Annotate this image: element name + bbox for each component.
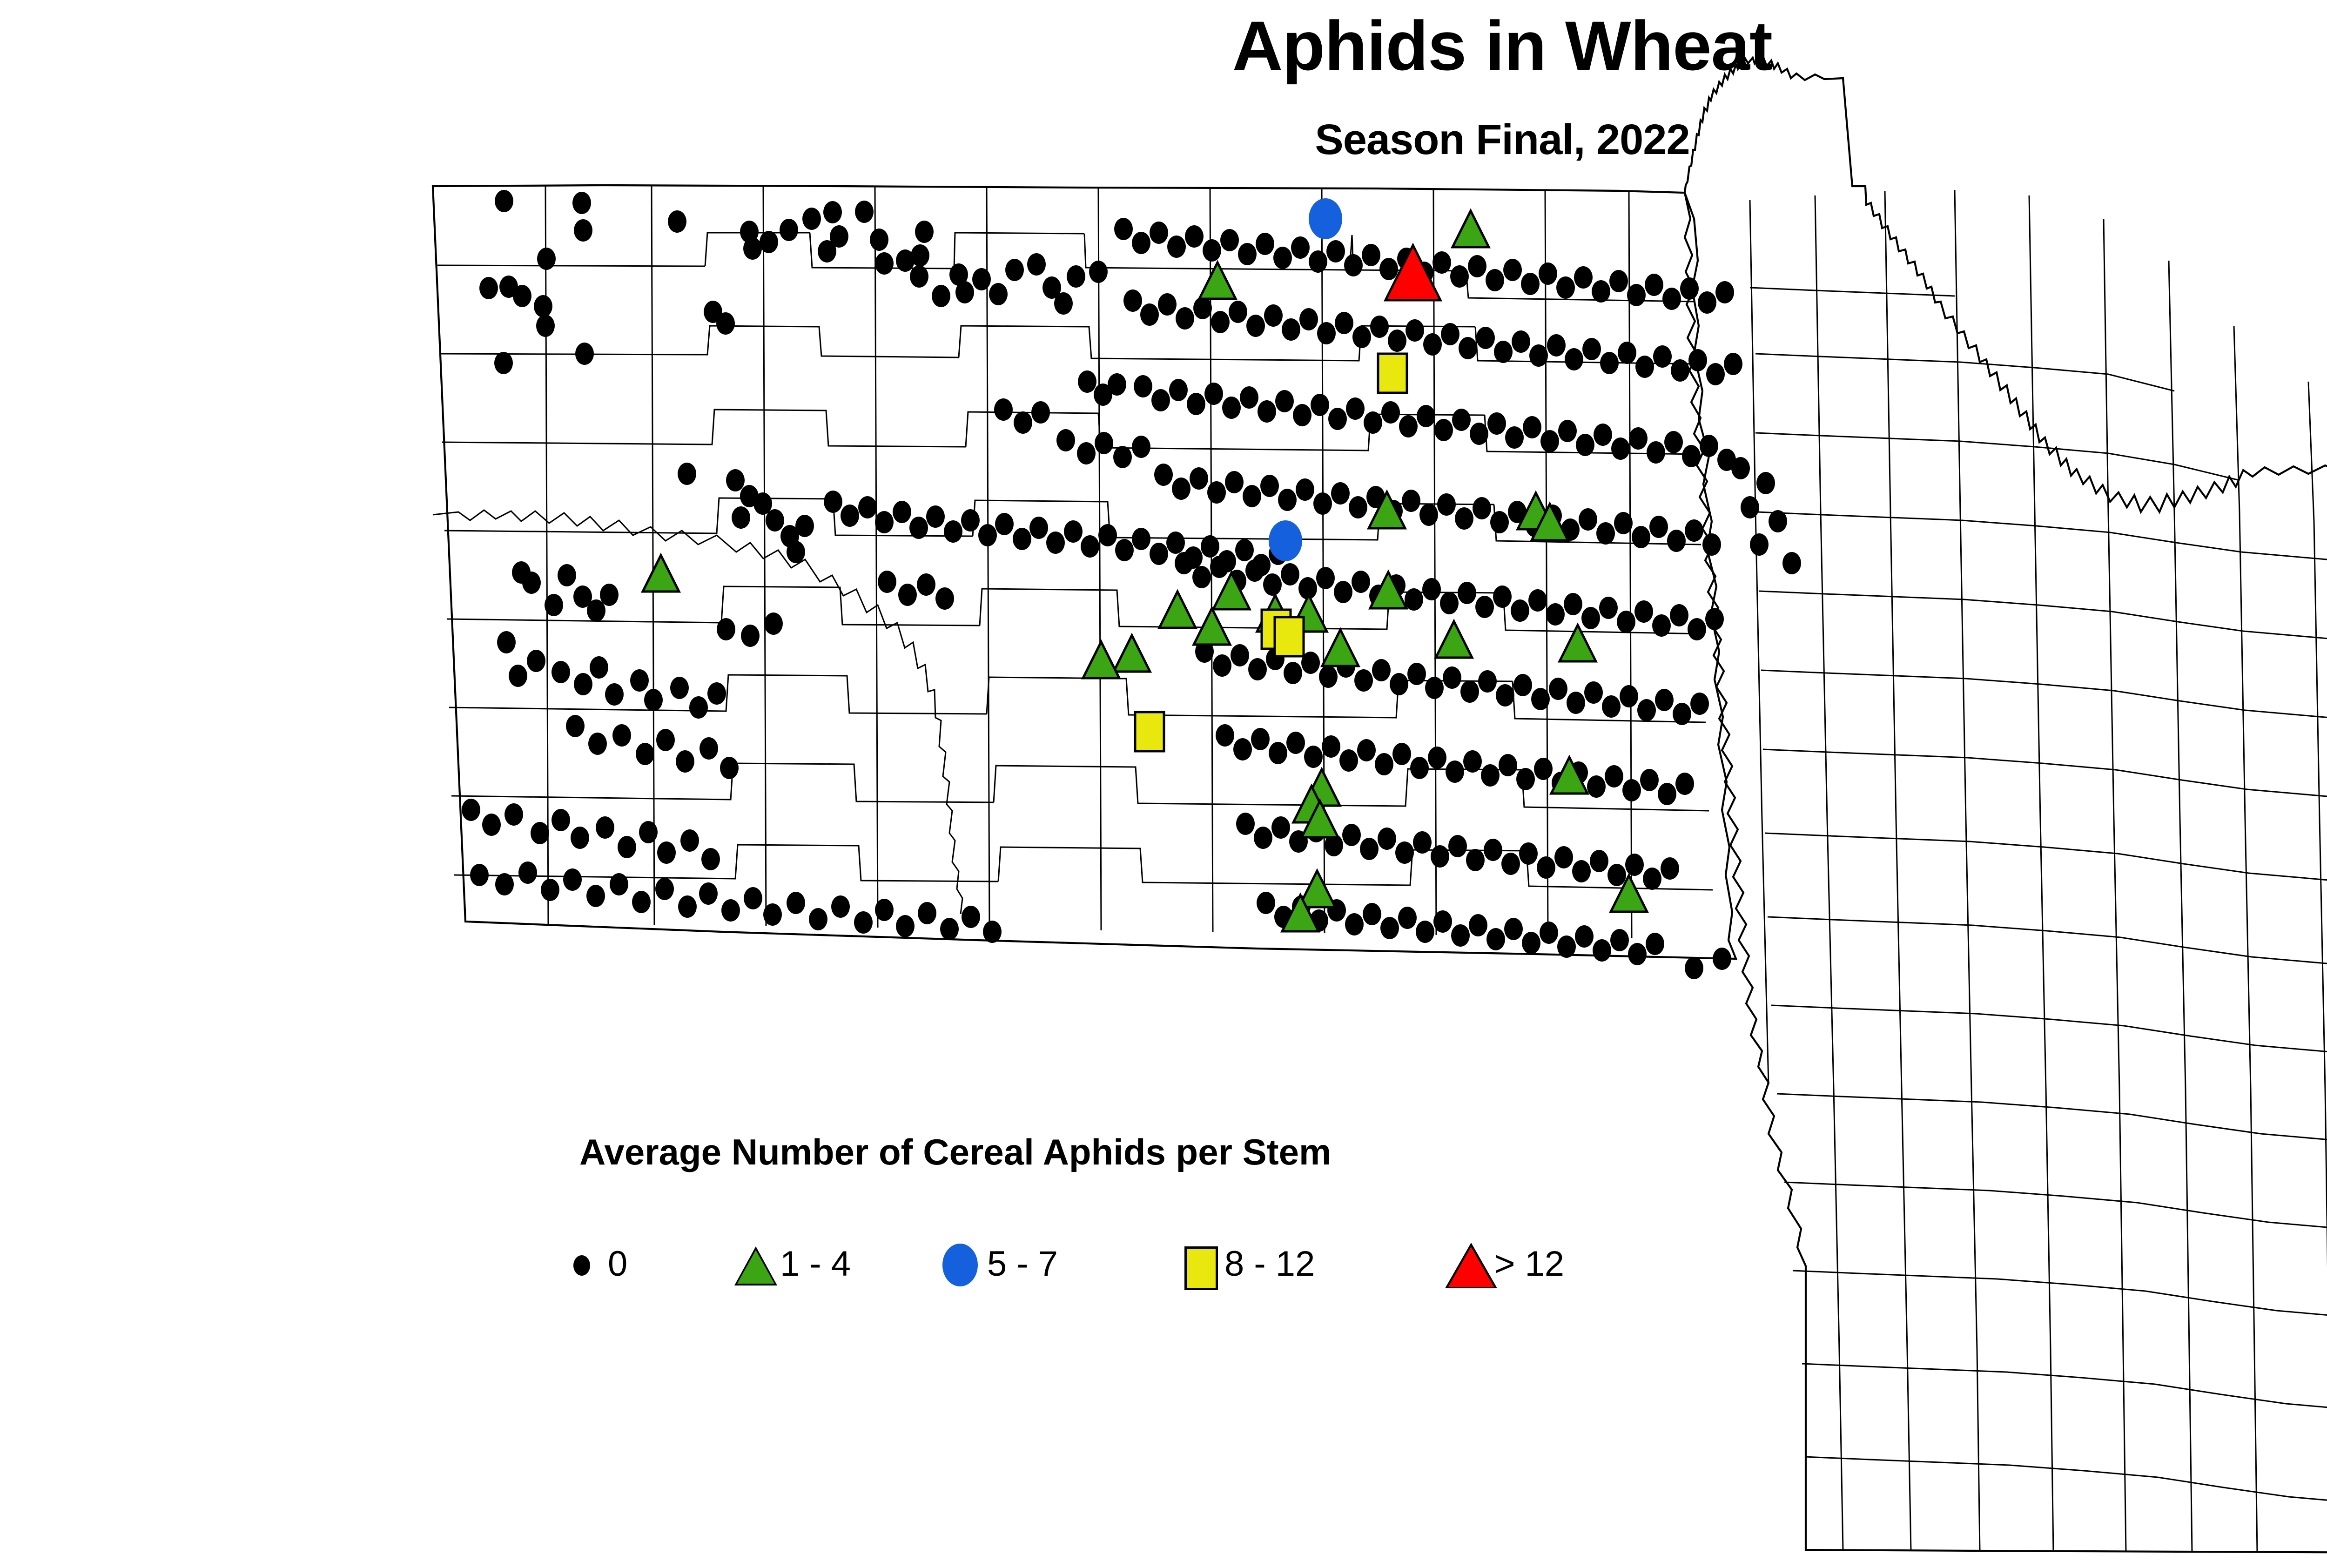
legend-item-1-4[interactable]: 1 - 4 bbox=[726, 1229, 851, 1299]
map-svg bbox=[0, 0, 2327, 1568]
legend-item-8-12[interactable]: 8 - 12 bbox=[1170, 1229, 1315, 1299]
north-dakota-counties bbox=[437, 186, 1713, 938]
legend-label-8-12: 8 - 12 bbox=[1224, 1244, 1315, 1284]
square-yellow-icon bbox=[1170, 1229, 1222, 1299]
legend-item-0[interactable]: 0 bbox=[554, 1229, 627, 1299]
legend-label-gt12: > 12 bbox=[1494, 1244, 1564, 1284]
triangle-red-icon bbox=[1440, 1229, 1492, 1299]
map-canvas bbox=[0, 0, 2327, 1568]
legend-title: Average Number of Cereal Aphids per Stem bbox=[579, 1131, 1331, 1173]
triangle-green-icon bbox=[726, 1229, 777, 1299]
legend-label-5-7: 5 - 7 bbox=[987, 1244, 1058, 1284]
legend-label-0: 0 bbox=[608, 1244, 627, 1284]
minnesota-outline bbox=[1685, 58, 2327, 1553]
legend-label-1-4: 1 - 4 bbox=[780, 1244, 851, 1284]
map-figure: Aphids in Wheat Season Final, 2022 bbox=[0, 0, 2327, 1568]
minnesota-counties bbox=[1750, 190, 2327, 1553]
circle-small-icon bbox=[554, 1229, 605, 1299]
legend-item-gt12[interactable]: > 12 bbox=[1440, 1229, 1564, 1299]
legend-item-5-7[interactable]: 5 - 7 bbox=[933, 1229, 1058, 1299]
circle-blue-icon bbox=[933, 1229, 984, 1299]
